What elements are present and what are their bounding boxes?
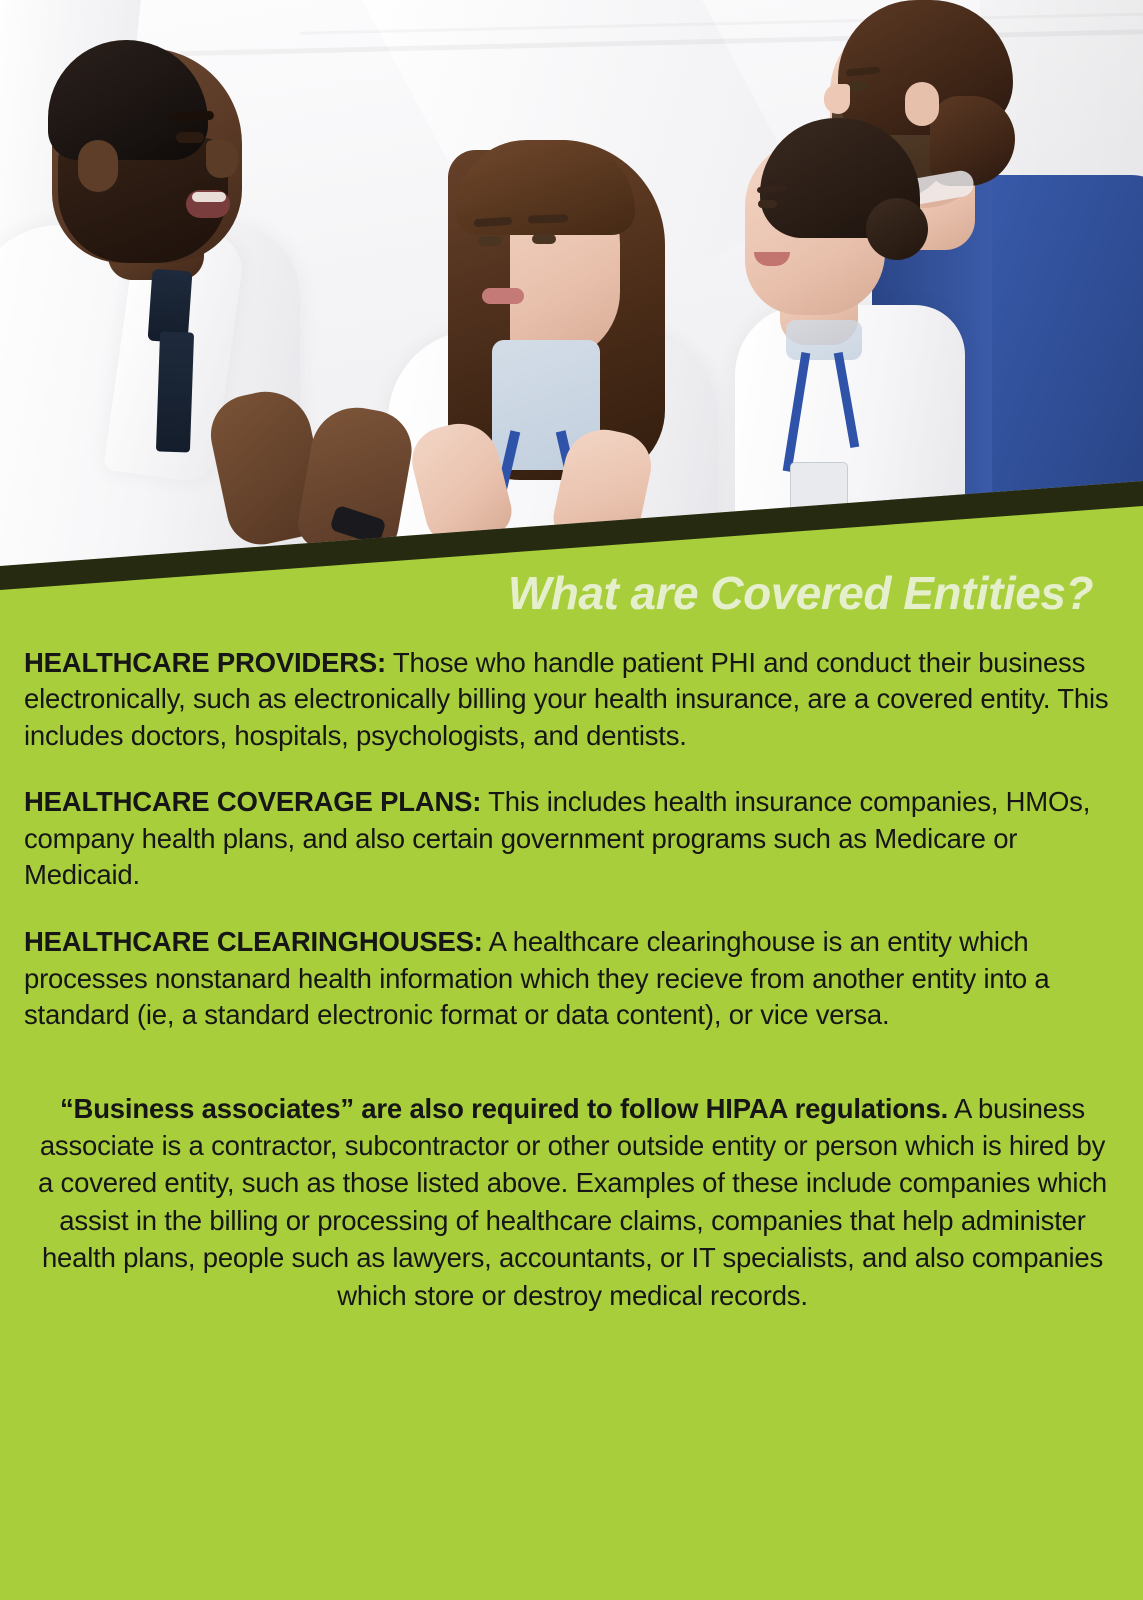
header-photo	[0, 0, 1143, 570]
teeth	[192, 192, 226, 202]
ear	[905, 82, 939, 126]
section-healthcare-providers: HEALTHCARE PROVIDERS: Those who handle p…	[24, 645, 1121, 755]
spacer	[24, 1064, 1121, 1090]
hair-bun	[866, 198, 928, 260]
eye-left	[478, 236, 502, 246]
collar	[786, 320, 862, 360]
clinic-background	[0, 0, 1143, 570]
eye-right	[532, 234, 556, 244]
eye	[848, 82, 868, 91]
closing-lead: “Business associates” are also required …	[60, 1093, 948, 1124]
section-healthcare-coverage-plans: HEALTHCARE COVERAGE PLANS: This includes…	[24, 784, 1121, 894]
sections-list: HEALTHCARE PROVIDERS: Those who handle p…	[0, 645, 1143, 1314]
closing-body: A business associate is a contractor, su…	[38, 1093, 1107, 1311]
eyebrow-right	[528, 214, 568, 223]
nose	[824, 84, 850, 114]
eye	[758, 200, 777, 208]
necktie-blade	[156, 331, 194, 452]
section-lead: HEALTHCARE COVERAGE PLANS:	[24, 786, 481, 817]
section-business-associates: “Business associates” are also required …	[24, 1090, 1121, 1314]
section-lead: HEALTHCARE CLEARINGHOUSES:	[24, 926, 483, 957]
ear	[78, 140, 118, 192]
section-healthcare-clearinghouses: HEALTHCARE CLEARINGHOUSES: A healthcare …	[24, 924, 1121, 1034]
content-area: What are Covered Entities? HEALTHCARE PR…	[0, 560, 1143, 1600]
infographic-poster: What are Covered Entities? HEALTHCARE PR…	[0, 0, 1143, 1600]
nose	[206, 140, 238, 178]
mouth	[482, 288, 524, 304]
eye	[176, 132, 204, 143]
id-badge	[790, 462, 848, 524]
section-lead: HEALTHCARE PROVIDERS:	[24, 647, 386, 678]
page-title: What are Covered Entities?	[0, 560, 1143, 619]
